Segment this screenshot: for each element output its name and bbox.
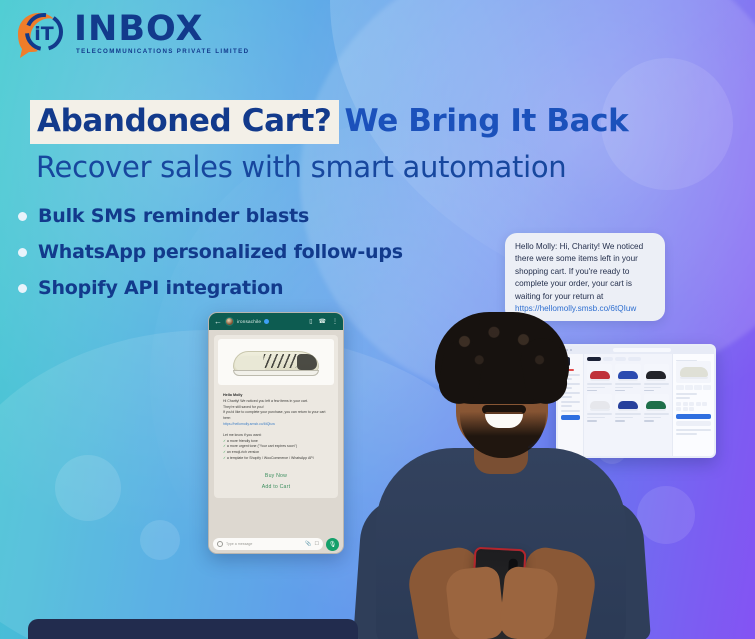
feature-label: Shopify API integration: [38, 277, 283, 299]
message-line-2: They're still saved for you!: [223, 405, 264, 409]
list-item: WhatsApp personalized follow-ups: [18, 241, 403, 263]
size-option[interactable]: [683, 407, 688, 411]
back-arrow-icon[interactable]: ←: [214, 318, 222, 326]
message-option: a template for Shopify / WooCommerce / W…: [227, 456, 314, 460]
detail-row: [676, 429, 711, 431]
chat-body: Hello Molly Hi Charity! We noticed you l…: [209, 330, 343, 535]
add-to-cart-button[interactable]: Add to Cart: [218, 481, 334, 492]
contact-avatar: [225, 317, 234, 326]
brand-tagline: TELECOMMUNICATIONS PRIVATE LIMITED: [76, 49, 249, 55]
feature-label: WhatsApp personalized follow-ups: [38, 241, 403, 263]
check-icon: ✓: [223, 456, 226, 460]
detail-name: [676, 393, 697, 395]
detail-hero-image: [676, 361, 711, 383]
bullet-dot-icon: [18, 248, 27, 257]
size-option[interactable]: [696, 402, 701, 406]
detail-add-to-cart-button[interactable]: [676, 414, 711, 419]
message-option: a more friendly tone: [227, 439, 258, 443]
size-option[interactable]: [676, 402, 681, 406]
thumbnail[interactable]: [685, 385, 693, 390]
chat-cta-group: Buy Now Add to Cart: [218, 465, 334, 494]
headline-rest: We Bring It Back: [345, 103, 629, 139]
verified-badge-icon: [264, 319, 269, 324]
poster-canvas: iT INBOX TELECOMMUNICATIONS PRIVATE LIMI…: [0, 0, 755, 639]
hair-texture: [435, 312, 569, 404]
microphone-icon[interactable]: 🎙: [326, 538, 339, 551]
attachment-icon[interactable]: 📎: [305, 541, 311, 547]
list-item: Shopify API integration: [18, 277, 403, 299]
thumbnail[interactable]: [676, 385, 684, 390]
message-line-1: Hi Charity! We noticed you left a few it…: [223, 399, 308, 403]
sneaker-photo: [218, 339, 334, 385]
emoji-icon[interactable]: [217, 541, 223, 547]
message-greeting: Hello Molly: [223, 393, 242, 397]
feature-list: Bulk SMS reminder blasts WhatsApp person…: [18, 205, 403, 313]
whatsapp-phone-mockup: ← ironsachile ▯ ☎ ⋮: [208, 312, 344, 554]
size-option[interactable]: [702, 402, 707, 406]
hand-left: [444, 565, 505, 639]
detail-price: [676, 397, 690, 399]
check-icon: ✓: [223, 450, 226, 454]
size-option[interactable]: [683, 402, 688, 406]
inbox-chat-logo-icon: iT: [14, 8, 70, 60]
message-option: a more urgent tone ("Your cart expires s…: [227, 444, 297, 448]
check-icon: ✓: [223, 444, 226, 448]
thumbnail[interactable]: [694, 385, 702, 390]
background-bubble: [140, 520, 180, 560]
bullet-dot-icon: [18, 284, 27, 293]
size-option[interactable]: [689, 407, 694, 411]
sms-body: Hello Molly: Hi, Charity! We noticed the…: [515, 241, 656, 303]
hand-right: [498, 565, 559, 639]
svg-text:iT: iT: [34, 23, 54, 45]
contact-name: ironsachile: [237, 319, 261, 324]
message-input-placeholder: Type a message: [226, 542, 252, 546]
product-card[interactable]: Hello Molly Hi Charity! We noticed you l…: [214, 335, 338, 498]
message-input[interactable]: Type a message 📎 ☐: [213, 538, 323, 550]
check-icon: ✓: [223, 439, 226, 443]
smiling-man-with-phone: [352, 300, 652, 639]
detail-row: [676, 433, 697, 435]
message-option: an emoji-rich version: [227, 450, 259, 454]
bottom-bar: [28, 619, 358, 639]
brand-logo: iT INBOX TELECOMMUNICATIONS PRIVATE LIMI…: [14, 8, 249, 60]
buy-now-button[interactable]: Buy Now: [218, 470, 334, 481]
background-bubble: [55, 455, 121, 521]
detail-secondary-button[interactable]: [676, 421, 711, 426]
size-selector[interactable]: [676, 402, 711, 412]
chat-header: ← ironsachile ▯ ☎ ⋮: [209, 313, 343, 330]
brand-name: INBOX: [74, 12, 249, 47]
list-item: Bulk SMS reminder blasts: [18, 205, 403, 227]
page-title: Abandoned Cart? We Bring It Back: [30, 100, 628, 144]
chat-message-text: Hello Molly Hi Charity! We noticed you l…: [218, 389, 334, 465]
message-line-3: If you'd like to complete your purchase,…: [223, 410, 325, 420]
headline-highlight: Abandoned Cart?: [30, 100, 339, 144]
camera-icon[interactable]: ☐: [315, 541, 319, 547]
overflow-menu-icon[interactable]: ⋮: [332, 319, 338, 325]
message-link[interactable]: https://hellomolly.smsb.co/6tQIuw: [223, 422, 275, 426]
subheadline: Recover sales with smart automation: [36, 150, 566, 184]
phone-call-icon[interactable]: ☎: [319, 319, 326, 325]
size-option[interactable]: [689, 402, 694, 406]
message-ask: Let me know if you want:: [223, 433, 262, 437]
product-detail-panel: [672, 354, 714, 456]
thumbnail[interactable]: [703, 385, 711, 390]
bullet-dot-icon: [18, 212, 27, 221]
video-call-icon[interactable]: ▯: [309, 319, 312, 325]
chat-composer: Type a message 📎 ☐ 🎙: [209, 535, 343, 553]
size-option[interactable]: [676, 407, 681, 411]
feature-label: Bulk SMS reminder blasts: [38, 205, 309, 227]
